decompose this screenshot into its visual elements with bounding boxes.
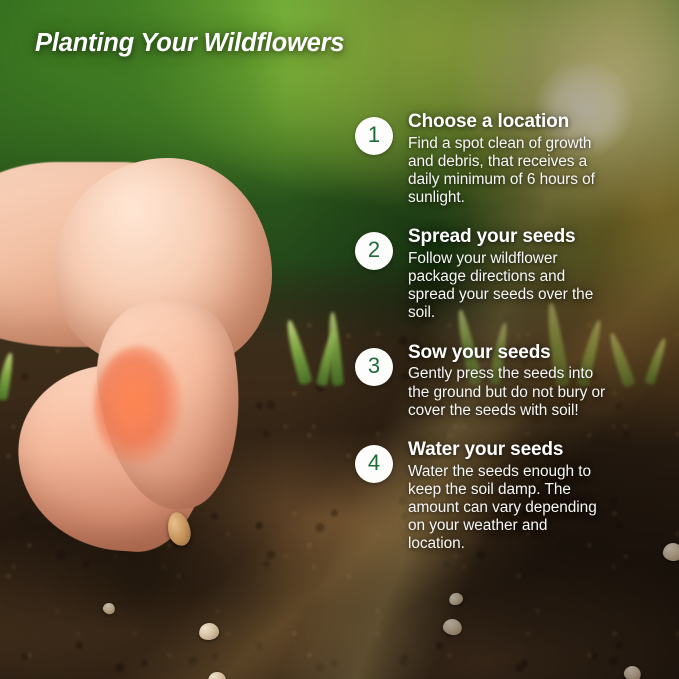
step-description: Water the seeds enough to keep the soil … <box>408 463 608 553</box>
step-number-badge: 2 <box>355 232 393 270</box>
content-overlay: Planting Your Wildflowers 1 Choose a loc… <box>0 0 679 679</box>
step-number-badge: 4 <box>355 445 393 483</box>
step-number: 4 <box>368 452 380 474</box>
step-heading: Water your seeds <box>408 440 665 461</box>
step-heading: Spread your seeds <box>408 227 665 248</box>
step-number-badge: 3 <box>355 348 393 386</box>
step-number-badge: 1 <box>355 117 393 155</box>
step-item-1: 1 Choose a location Find a spot clean of… <box>355 112 665 207</box>
step-number: 2 <box>368 239 380 261</box>
page-title: Planting Your Wildflowers <box>35 29 344 58</box>
step-number: 3 <box>368 355 380 377</box>
steps-list: 1 Choose a location Find a spot clean of… <box>355 112 665 553</box>
step-heading: Sow your seeds <box>408 343 665 364</box>
step-number: 1 <box>368 124 380 146</box>
step-item-4: 4 Water your seeds Water the seeds enoug… <box>355 440 665 553</box>
step-description: Gently press the seeds into the ground b… <box>408 365 608 419</box>
step-description: Find a spot clean of growth and debris, … <box>408 135 608 207</box>
infographic-canvas: Planting Your Wildflowers 1 Choose a loc… <box>0 0 679 679</box>
step-item-3: 3 Sow your seeds Gently press the seeds … <box>355 343 665 420</box>
step-heading: Choose a location <box>408 112 665 133</box>
step-item-2: 2 Spread your seeds Follow your wildflow… <box>355 227 665 322</box>
step-description: Follow your wildflower package direction… <box>408 250 608 322</box>
